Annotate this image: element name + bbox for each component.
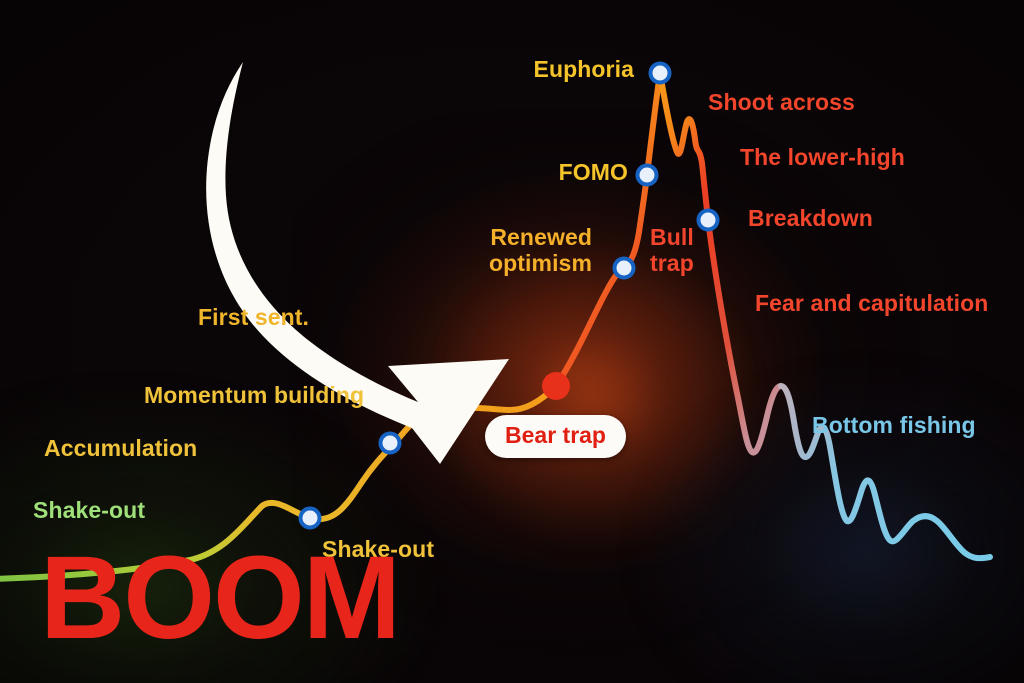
infographic-canvas: Euphoria FOMO Renewed optimism Bull trap… <box>0 0 1024 683</box>
headline-boom: BOOM <box>40 545 399 651</box>
